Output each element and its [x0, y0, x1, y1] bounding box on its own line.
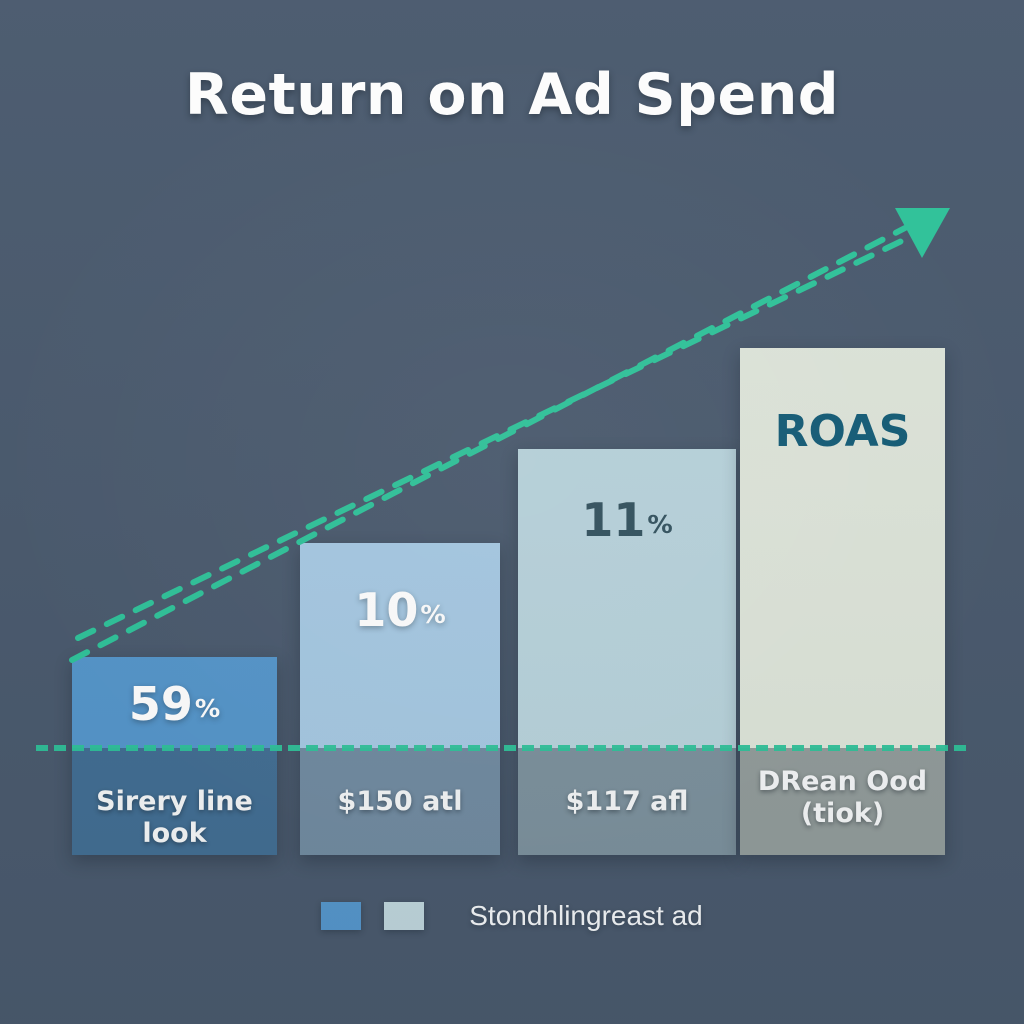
bar-2[interactable]: 10%$150 atl — [300, 543, 500, 855]
baseline-dashed-line — [36, 745, 966, 751]
bar-1[interactable]: 59%Sirery line look — [72, 657, 277, 855]
bar-value-label: ROAS — [740, 410, 945, 454]
bar-footer-label-line1: $117 afl — [518, 786, 736, 818]
bar-value-label: 11% — [518, 497, 736, 543]
bar-footer: DRean Ood(tiok) — [740, 748, 945, 855]
legend-swatch-primary — [321, 902, 361, 930]
bar-value-suffix: % — [647, 510, 672, 539]
bar-footer: $117 afl — [518, 748, 736, 855]
bar-3[interactable]: 11%$117 afl — [518, 449, 736, 855]
bar-value-suffix: % — [420, 600, 445, 629]
bar-body: ROAS — [740, 348, 945, 748]
bar-body: 11% — [518, 449, 736, 748]
bar-value-number: ROAS — [775, 406, 911, 457]
bar-value-number: 11 — [581, 493, 645, 547]
legend-swatch-secondary — [384, 902, 424, 930]
bar-footer: Sirery line look — [72, 748, 277, 855]
bar-footer-label-line2: (tiok) — [740, 798, 945, 830]
bar-footer-label-line1: $150 atl — [300, 786, 500, 818]
bar-body: 59% — [72, 657, 277, 748]
trend-arrow-triangle-icon — [895, 208, 950, 258]
bar-footer-label: $150 atl — [300, 786, 500, 818]
bar-value-number: 10 — [354, 583, 418, 637]
bar-value-label: 10% — [300, 587, 500, 633]
bar-footer: $150 atl — [300, 748, 500, 855]
chart-title: Return on Ad Spend — [0, 62, 1024, 128]
bar-value-label: 59% — [72, 681, 277, 727]
bar-footer-label-line1: DRean Ood — [740, 766, 945, 798]
bar-4[interactable]: ROASDRean Ood(tiok) — [740, 348, 945, 855]
bar-body: 10% — [300, 543, 500, 748]
chart-legend: Stondhlingreast ad — [0, 900, 1024, 932]
bar-value-number: 59 — [129, 677, 193, 731]
bar-footer-label: $117 afl — [518, 786, 736, 818]
bar-footer-label: DRean Ood(tiok) — [740, 766, 945, 830]
legend-label: Stondhlingreast ad — [469, 900, 703, 932]
bar-value-suffix: % — [195, 694, 220, 723]
chart-canvas: Return on Ad Spend 59%Sirery line look10… — [0, 0, 1024, 1024]
bar-footer-label: Sirery line look — [72, 786, 277, 850]
bar-footer-label-line1: Sirery line look — [72, 786, 277, 850]
